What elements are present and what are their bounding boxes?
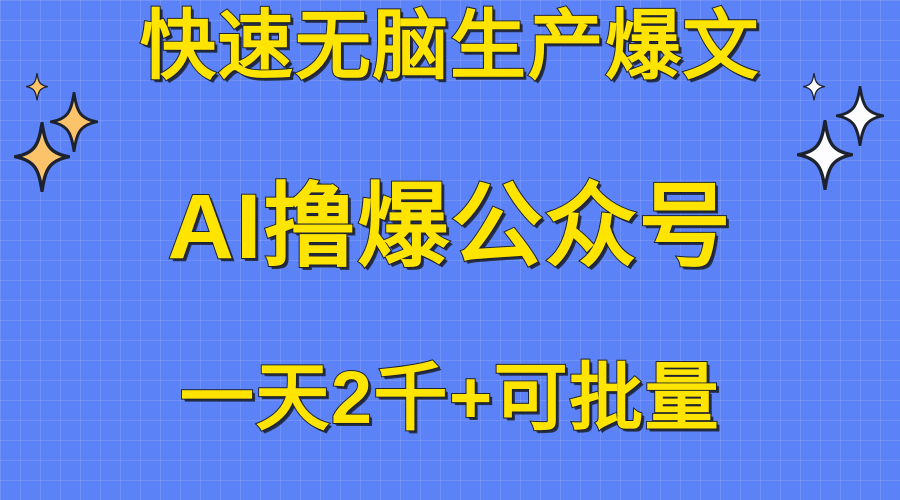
headline-line-2: AI撸爆公众号 <box>168 181 733 273</box>
headline-stack: 快速无脑生产爆文 AI撸爆公众号 一天2千+可批量 <box>0 0 900 500</box>
headline-line-1: 快速无脑生产爆文 <box>140 9 760 85</box>
headline-line-3: 一天2千+可批量 <box>180 361 720 435</box>
poster-canvas: 快速无脑生产爆文 AI撸爆公众号 一天2千+可批量 <box>0 0 900 500</box>
